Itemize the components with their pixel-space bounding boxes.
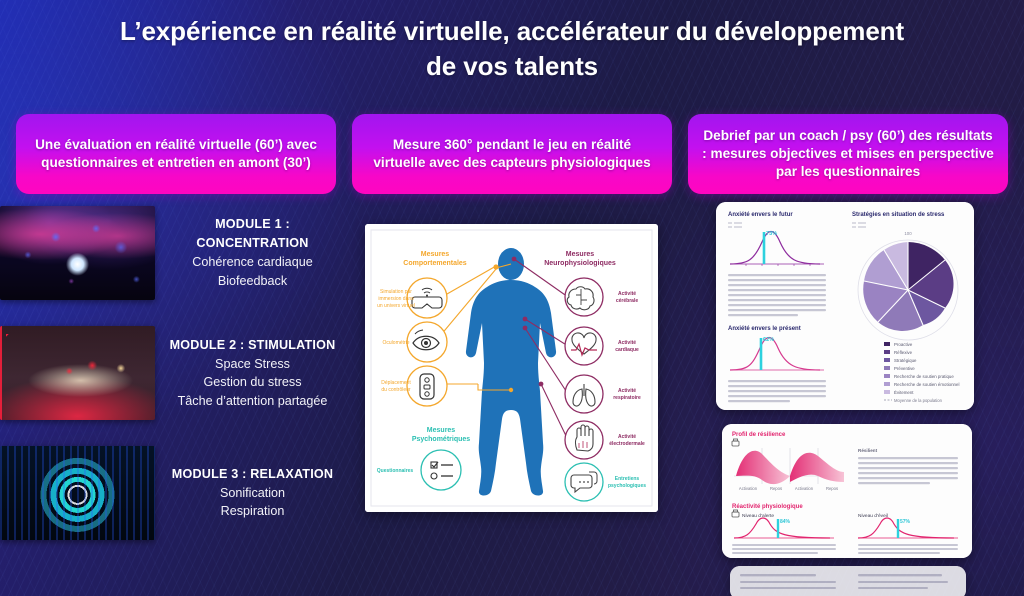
behavioral-anchor-hand [509, 388, 513, 392]
checklist-icon [421, 450, 461, 490]
module-3-line-2: Respiration [163, 502, 342, 521]
report-heading-anxiete-futur: Anxiété envers le futur [728, 212, 793, 218]
report-heading-reactivite: Réactivité physiologique [732, 504, 803, 510]
legend-evitement: Évitement [894, 390, 914, 395]
hand-icon [565, 421, 603, 459]
diagram-title-psychometric-line2: Psychométriques [412, 436, 470, 443]
measurement-diagram-card[interactable]: .lbl-o{ font:5px "Liberation Sans", sans… [365, 224, 658, 512]
controller-icon [407, 366, 447, 406]
speech-bubbles-icon [565, 463, 603, 501]
banner-mesure[interactable]: Mesure 360° pendant le jeu en réalité vi… [352, 114, 672, 194]
report-panel-anxiety-content: Anxiété envers le futur 73% Anx [716, 202, 974, 410]
page-title-line-1: L’expérience en réalité virtuelle, accél… [120, 16, 904, 46]
diagram-label-simulation-line2: immersion dans [378, 296, 414, 302]
vr-screenshot-stimulation[interactable] [0, 326, 155, 420]
module-2-line-3: Tâche d’attention partagée [163, 392, 342, 411]
diagram-label-cerebrale-line1: Activité [618, 291, 636, 297]
legend-strategique: Stratégique [894, 358, 917, 363]
diagram-label-questionnaires: Questionnaires [377, 468, 414, 474]
legend-soutien-emotionnel: Recherche de soutien émotionnel [894, 382, 959, 387]
brain-icon [565, 278, 603, 316]
measurement-diagram: .lbl-o{ font:5px "Liberation Sans", sans… [365, 224, 658, 512]
lungs-icon [565, 375, 603, 413]
report-heading-anxiete-present: Anxiété envers le présent [728, 326, 801, 332]
resilience-caption-title: Résilient [858, 448, 878, 453]
resilience-axis-repos-2: Repos [826, 486, 838, 491]
banner-debrief-text: Debrief par un coach / psy (60’) des rés… [702, 127, 994, 181]
score-anxiete-present: 62% [763, 337, 774, 343]
banner-debrief[interactable]: Debrief par un coach / psy (60’) des rés… [688, 114, 1008, 194]
diagram-label-entretiens-line2: psychologiques [608, 483, 646, 489]
module-row-2: MODULE 2 : STIMULATION Space Stress Gest… [0, 324, 352, 422]
score-niveau-eveil: 57% [900, 519, 911, 525]
rose-axis-label-100: 100 [904, 231, 912, 236]
module-row-3: MODULE 3 : RELAXATION Sonification Respi… [0, 444, 352, 542]
banner-mesure-text: Mesure 360° pendant le jeu en réalité vi… [366, 136, 658, 172]
diagram-title-behavioral-line1: Mesures [421, 251, 450, 258]
report-heading-profil-resilience: Profil de résilience [732, 432, 786, 438]
report-panel-resilience[interactable]: Profil de résilience Activation Repos Ac… [722, 424, 972, 558]
subheading-niveau-eveil: Niveau d’éveil [858, 513, 888, 519]
legend-moyenne-population: Moyenne de la population [894, 398, 943, 403]
legend-reflexive: Réflexive [894, 350, 913, 355]
diagram-title-neuro-line1: Mesures [566, 251, 595, 258]
module-1-text: MODULE 1 : CONCENTRATION Cohérence cardi… [155, 215, 352, 290]
module-row-1: MODULE 1 : CONCENTRATION Cohérence cardi… [0, 204, 352, 302]
module-3-line-1: Sonification [163, 484, 342, 503]
eye-icon [407, 322, 447, 362]
diagram-label-cardiaque-line2: cardiaque [615, 347, 639, 353]
diagram-label-respiratoire-line2: respiratoire [613, 395, 641, 401]
diagram-label-cerebrale-line2: cérébrale [616, 298, 638, 304]
diagram-label-deplacement-line2: du contrôleur [381, 387, 411, 393]
module-3-text: MODULE 3 : RELAXATION Sonification Respi… [155, 465, 352, 521]
module-2-title: MODULE 2 : STIMULATION [163, 336, 342, 355]
banner-evaluation-text: Une évaluation en réalité virtuelle (60’… [30, 136, 322, 172]
diagram-title-behavioral-line2: Comportementales [403, 260, 467, 267]
score-niveau-alerte: 84% [780, 519, 791, 525]
diagram-label-deplacement-line1: Déplacement [381, 380, 411, 386]
subheading-niveau-alerte: Niveau d’alerte [742, 513, 774, 519]
resilience-axis-activation-2: Activation [795, 486, 814, 491]
modules-column: MODULE 1 : CONCENTRATION Cohérence cardi… [0, 204, 352, 554]
heart-icon [565, 327, 603, 365]
diagram-label-simulation-line3: un univers virtuel [377, 303, 415, 309]
legend-soutien-pratique: Recherche de soutien pratique [894, 374, 954, 379]
neuro-anchor-lungs [523, 326, 528, 331]
diagram-label-electrodermale-line2: électrodermale [609, 441, 645, 447]
report-panel-resilience-content: Profil de résilience Activation Repos Ac… [722, 424, 972, 558]
resilience-axis-activation-1: Activation [739, 486, 758, 491]
banner-row: Une évaluation en réalité virtuelle (60’… [16, 114, 1008, 194]
diagram-title-psychometric-line1: Mesures [427, 427, 456, 434]
neuro-anchor-head [512, 257, 517, 262]
diagram-label-respiratoire-line1: Activité [618, 388, 636, 394]
module-1-line-1: Cohérence cardiaque [163, 253, 342, 272]
page-title-line-2: de vos talents [426, 51, 598, 81]
module-2-line-2: Gestion du stress [163, 373, 342, 392]
neuro-anchor-chest [523, 317, 528, 322]
page-header: L’expérience en réalité virtuelle, accél… [0, 14, 1024, 84]
legend-preventive: Préventive [894, 366, 915, 371]
diagram-label-simulation-line1: Simulation par [380, 289, 412, 295]
vr-screenshot-concentration[interactable] [0, 206, 155, 300]
module-3-title: MODULE 3 : RELAXATION [163, 465, 342, 484]
banner-evaluation[interactable]: Une évaluation en réalité virtuelle (60’… [16, 114, 336, 194]
report-panel-partial-content [730, 566, 966, 596]
page-title: L’expérience en réalité virtuelle, accél… [0, 14, 1024, 84]
module-1-line-2: Biofeedback [163, 272, 342, 291]
report-heading-strategies: Stratégies en situation de stress [852, 212, 945, 218]
module-2-line-1: Space Stress [163, 355, 342, 374]
legend-proactive: Proactive [894, 342, 913, 347]
diagram-label-electrodermale-line1: Activité [618, 434, 636, 440]
resilience-axis-repos-1: Repos [770, 486, 782, 491]
neuro-anchor-hand [539, 382, 544, 387]
behavioral-anchor-head [493, 264, 498, 269]
diagram-label-entretiens-line1: Entretiens [615, 476, 640, 482]
module-2-text: MODULE 2 : STIMULATION Space Stress Gest… [155, 336, 352, 411]
report-panel-anxiety[interactable]: Anxiété envers le futur 73% Anx [716, 202, 974, 410]
diagram-label-cardiaque-line1: Activité [618, 340, 636, 346]
diagram-label-oculometrie: Oculométrie [383, 340, 410, 346]
score-anxiete-futur: 73% [766, 231, 777, 237]
report-panel-partial[interactable] [730, 566, 966, 596]
module-1-title: MODULE 1 : CONCENTRATION [163, 215, 342, 253]
vr-screenshot-relaxation[interactable] [0, 446, 155, 540]
report-blurb-futur [728, 274, 826, 316]
diagram-title-neuro-line2: Neurophysiologiques [544, 260, 616, 267]
